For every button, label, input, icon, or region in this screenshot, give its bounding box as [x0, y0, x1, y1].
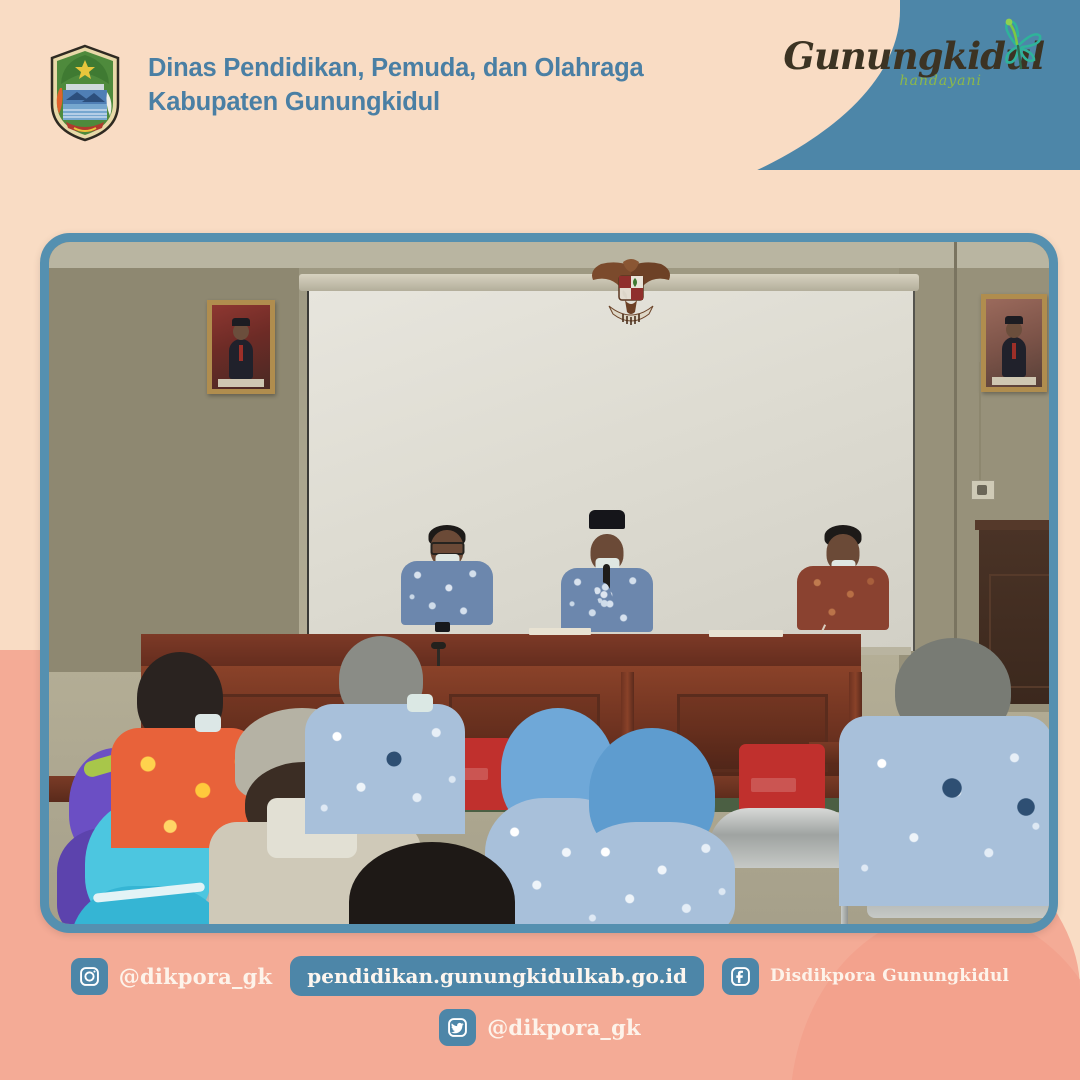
portrait-image: [986, 299, 1042, 387]
facebook-icon[interactable]: [722, 958, 759, 995]
garuda-pancasila-emblem: [583, 254, 679, 328]
twitter-handle: @dikpora_gk: [487, 1015, 641, 1040]
header: Dinas Pendidikan, Pemuda, dan Olahraga K…: [44, 44, 643, 142]
cabinet-top: [975, 520, 1049, 530]
instagram-link[interactable]: @dikpora_gk: [71, 958, 273, 995]
president-portrait: [207, 300, 275, 394]
hanging-cable: [979, 362, 981, 482]
footer-row-primary: @dikpora_gk pendidikan.gunungkidulkab.go…: [0, 956, 1080, 996]
green-butterfly-icon: [984, 16, 1050, 72]
instagram-icon[interactable]: [71, 958, 108, 995]
portrait-figure: [1002, 337, 1026, 377]
wall-power-socket: [971, 480, 995, 500]
face-mask: [195, 714, 221, 732]
ceiling-band: [49, 242, 1049, 268]
mobile-phone: [435, 622, 450, 632]
twitter-icon[interactable]: [439, 1009, 476, 1046]
title-line-2: Kabupaten Gunungkidul: [148, 86, 643, 120]
peci-cap: [589, 510, 625, 529]
instagram-handle: @dikpora_gk: [119, 964, 273, 989]
vice-president-portrait: [981, 294, 1047, 392]
portrait-image: [212, 305, 270, 389]
portrait-tie: [239, 345, 243, 361]
portrait-tie: [1012, 343, 1016, 359]
portrait-peci: [232, 318, 250, 326]
page-title: Dinas Pendidikan, Pemuda, dan Olahraga K…: [148, 44, 643, 119]
panelist-batik-shirt: [401, 561, 493, 625]
website-link[interactable]: pendidikan.gunungkidulkab.go.id: [290, 956, 704, 996]
gunungkidul-regency-crest-icon: [44, 44, 126, 142]
korpri-batik-shirt: [305, 704, 465, 834]
document-paper: [529, 628, 591, 635]
website-url: pendidikan.gunungkidulkab.go.id: [307, 964, 687, 988]
poster-canvas: Dinas Pendidikan, Pemuda, dan Olahraga K…: [0, 0, 1080, 1080]
face-mask: [407, 694, 433, 712]
facebook-page: Disdikpora Gunungkidul: [770, 966, 1009, 986]
event-photo: [40, 233, 1058, 933]
facebook-link[interactable]: Disdikpora Gunungkidul: [722, 958, 1009, 995]
korpri-emblem: [935, 774, 969, 802]
portrait-nameplate: [992, 377, 1036, 385]
title-line-1: Dinas Pendidikan, Pemuda, dan Olahraga: [148, 52, 643, 86]
panelist-batik-shirt: [797, 566, 889, 630]
twitter-link[interactable]: @dikpora_gk: [439, 1009, 641, 1046]
korpri-batik-shirt: [573, 822, 735, 924]
korpri-emblem: [1011, 794, 1041, 820]
footer-social-links: @dikpora_gk pendidikan.gunungkidulkab.go…: [0, 956, 1080, 1046]
gunungkidul-brand: Gunungkidul handayani: [783, 38, 1044, 89]
footer-row-secondary: @dikpora_gk: [0, 1009, 1080, 1046]
portrait-nameplate: [218, 379, 264, 387]
document-paper: [709, 630, 783, 637]
portrait-figure: [229, 339, 253, 379]
wall-conduit: [954, 242, 957, 642]
table-microphone: [431, 642, 446, 649]
photo-scene: [49, 242, 1049, 924]
korpri-emblem: [381, 748, 407, 770]
portrait-peci: [1005, 316, 1023, 324]
